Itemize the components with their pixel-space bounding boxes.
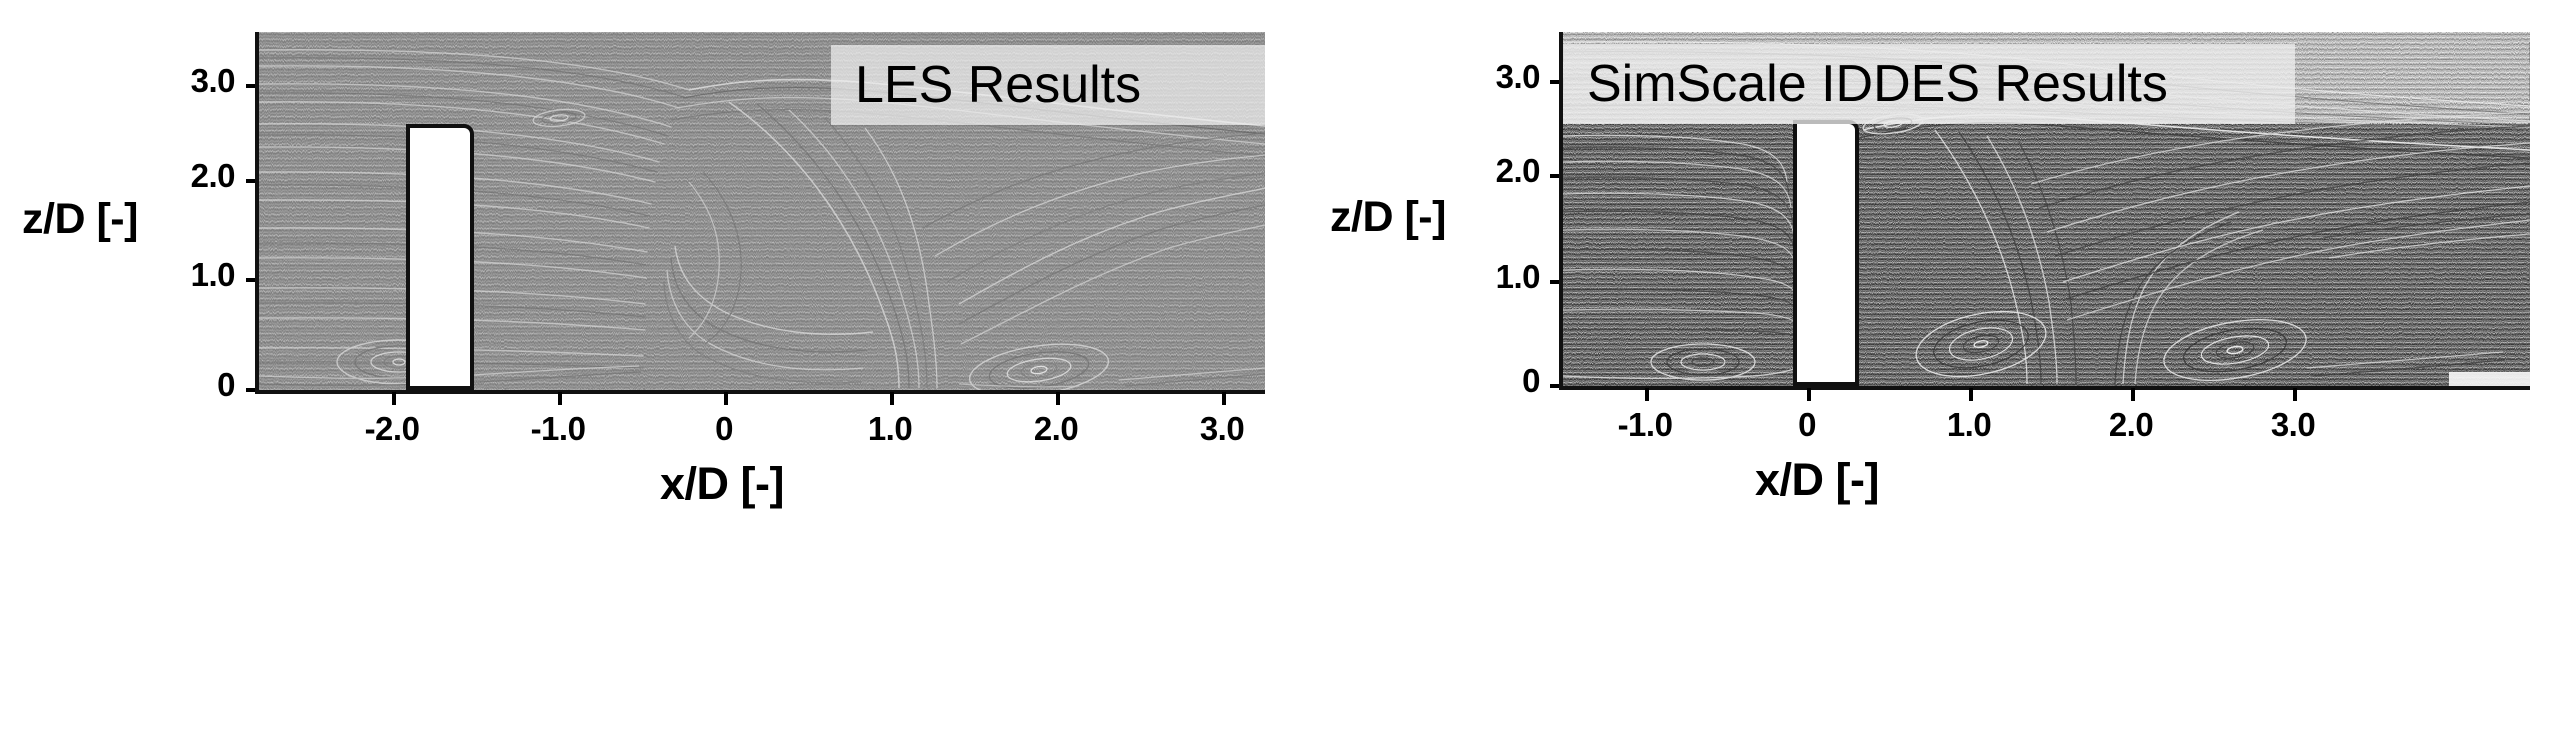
x-tickmark-iddes-2 (2131, 388, 2135, 401)
y-tick-label-iddes-0: 0 (1455, 362, 1540, 400)
x-tick-label-les--1: -1.0 (498, 410, 618, 448)
plot-area-iddes: SimScale IDDES Results (1563, 32, 2530, 386)
y-tick-label-les-1: 1.0 (150, 256, 235, 294)
x-tickmark-les-2 (1056, 392, 1060, 405)
x-tick-label-iddes-2: 2.0 (2071, 406, 2191, 444)
x-tick-label-les-0: 0 (664, 410, 784, 448)
plot-area-les: LES Results (259, 32, 1265, 390)
x-tickmark-les-3 (1222, 392, 1226, 405)
x-tick-label-les-2: 2.0 (996, 410, 1116, 448)
x-tick-label-iddes-3: 3.0 (2233, 406, 2353, 444)
x-tickmark-iddes--1 (1645, 388, 1649, 401)
x-axis-label-iddes: x/D [-] (1755, 454, 1879, 506)
x-tickmark-iddes-3 (2293, 388, 2297, 401)
panel-les: z/D [-] 3.0 2.0 1.0 0 (0, 0, 1300, 752)
x-tick-label-iddes-1: 1.0 (1909, 406, 2029, 444)
y-tick-label-les-3: 3.0 (150, 62, 235, 100)
figure-root: z/D [-] 3.0 2.0 1.0 0 (0, 0, 2561, 752)
x-axis-line-les (255, 390, 1265, 394)
x-tickmark-les--1 (558, 392, 562, 405)
x-tickmark-iddes-0 (1807, 388, 1811, 401)
caption-text-iddes: SimScale IDDES Results (1587, 54, 2168, 114)
y-axis-line-les (255, 32, 259, 394)
x-tick-label-les-3: 3.0 (1162, 410, 1282, 448)
y-tick-label-les-2: 2.0 (150, 157, 235, 195)
caption-box-les: LES Results (831, 45, 1265, 125)
x-tick-label-les--2: -2.0 (332, 410, 452, 448)
caption-box-iddes: SimScale IDDES Results (1563, 44, 2295, 124)
y-tick-label-iddes-3: 3.0 (1455, 58, 1540, 96)
y-axis-line-iddes (1559, 32, 1563, 390)
x-tickmark-les--2 (392, 392, 396, 405)
obstacle-les (406, 124, 474, 390)
x-axis-line-iddes (1559, 386, 2530, 390)
y-tick-label-iddes-1: 1.0 (1455, 258, 1540, 296)
x-tick-label-iddes--1: -1.0 (1585, 406, 1705, 444)
x-tickmark-les-0 (724, 392, 728, 405)
x-tickmark-les-1 (890, 392, 894, 405)
x-tickmark-iddes-1 (1969, 388, 1973, 401)
y-axis-label-les: z/D [-] (22, 195, 138, 244)
obstacle-iddes (1793, 120, 1859, 386)
x-axis-label-les: x/D [-] (660, 458, 784, 510)
caption-text-les: LES Results (855, 55, 1141, 115)
y-tick-label-iddes-2: 2.0 (1455, 152, 1540, 190)
x-tick-label-les-1: 1.0 (830, 410, 950, 448)
y-tick-label-les-0: 0 (150, 366, 235, 404)
y-axis-label-iddes: z/D [-] (1330, 193, 1446, 242)
panel-iddes: z/D [-] 3.0 2.0 1.0 0 (1300, 0, 2561, 752)
x-tick-label-iddes-0: 0 (1747, 406, 1867, 444)
